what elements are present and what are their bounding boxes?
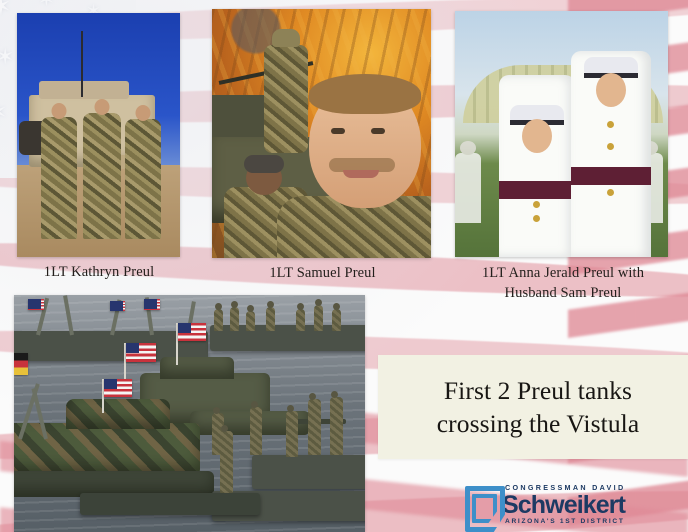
logo-text-block: CONGRESSMAN DAVID Schweikert ARIZONA'S 1… [502,483,625,525]
caption-photo-3: 1LT Anna Jerald Preul with Husband Sam P… [452,263,674,303]
photo-selfie-autumn [212,9,431,258]
graphic-canvas: ✶ ✶ ✶ ✶ ✶ ✶ ✶ [0,0,688,532]
caption-photo-3-line-2: Husband Sam Preul [452,283,674,303]
headline-text: First 2 Preul tanks crossing the Vistula [429,374,648,440]
headline-line-2: crossing the Vistula [437,407,640,440]
photo-west-point-couple [455,11,668,257]
headline-line-1: First 2 Preul tanks [437,374,640,407]
photo-river-crossing [14,295,365,532]
congressman-logo: CONGRESSMAN DAVID Schweikert ARIZONA'S 1… [463,481,638,527]
headline-panel: First 2 Preul tanks crossing the Vistula [378,355,688,459]
logo-tagline: ARIZONA'S 1ST DISTRICT [505,518,625,525]
caption-photo-2: 1LT Samuel Preul [215,264,430,283]
caption-photo-3-line-1: 1LT Anna Jerald Preul with [452,263,674,283]
caption-photo-1: 1LT Kathryn Preul [10,263,188,282]
logo-name: Schweikert [502,492,625,518]
arizona-outline-icon [463,484,499,524]
photo-soldiers-desert [17,13,180,257]
